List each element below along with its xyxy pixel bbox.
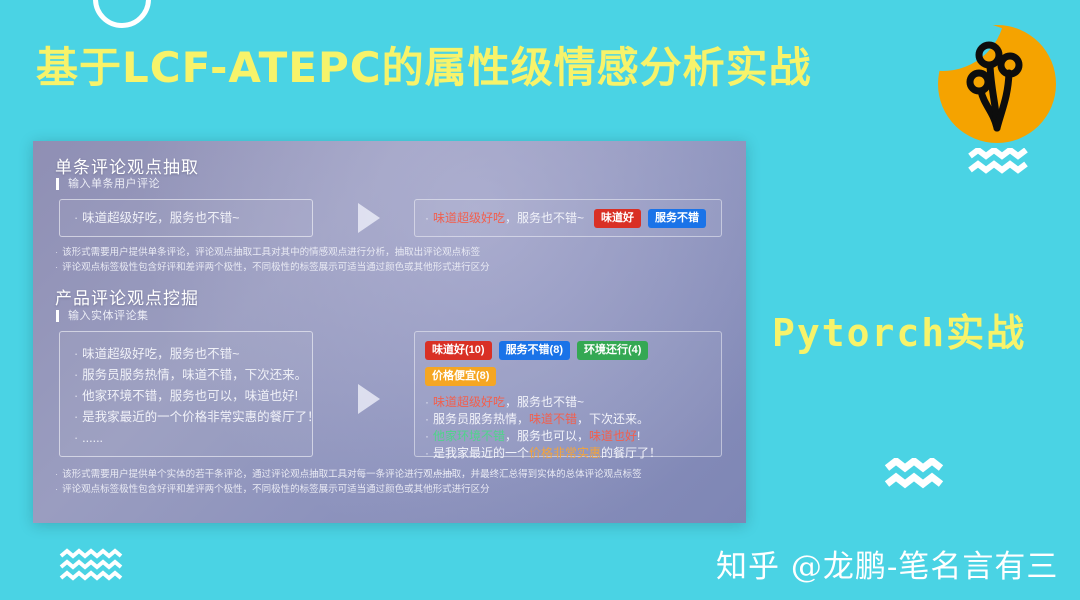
input-line: ·是我家最近的一个价格非常实惠的餐厅了！ xyxy=(74,407,298,428)
note-item: ·评论观点标签极性包含好评和差评两个极性，不同极性的标签展示可适当通过颜色或其他… xyxy=(55,482,642,497)
bullet-icon: · xyxy=(74,211,78,225)
bullet-icon: · xyxy=(74,347,78,361)
section-two-subtitle: 输入实体评论集 xyxy=(56,310,149,322)
result-line: ·他家环境不错，服务也可以，味道也好! xyxy=(425,428,711,445)
text-span: 的餐厅了！ xyxy=(601,446,661,460)
text-span: ，下次还来。 xyxy=(577,412,649,426)
input-line: ·服务员服务热情，味道不错，下次还来。 xyxy=(74,365,298,386)
result-line: ·服务员服务热情，味道不错，下次还来。 xyxy=(425,411,711,428)
arrow-right-icon xyxy=(358,384,380,414)
bullet-icon: · xyxy=(425,395,429,409)
text-span: 味道超级好吃 xyxy=(433,211,505,225)
bullet-icon: · xyxy=(425,412,429,426)
bullet-icon: · xyxy=(55,247,58,258)
circle-outline-icon xyxy=(93,0,151,28)
content-panel: 单条评论观点抽取 输入单条用户评论 ·味道超级好吃，服务也不错~ ·味道超级好吃… xyxy=(33,141,746,523)
sentiment-tag[interactable]: 价格便宜(8) xyxy=(425,367,496,386)
text-span: 价格非常实惠 xyxy=(529,446,601,460)
text-span: ! xyxy=(637,429,640,443)
text-span: 服务员服务热情， xyxy=(433,412,529,426)
watermark: 知乎 @龙鹏-笔名言有三 xyxy=(716,541,1058,586)
bullet-icon: · xyxy=(425,211,429,225)
slide-root: { "theme": { "background": "#4ad3e4", "t… xyxy=(0,0,1080,600)
section-two-output: 味道好(10)服务不错(8)环境还行(4)价格便宜(8) ·味道超级好吃，服务也… xyxy=(414,331,722,457)
sentiment-tag[interactable]: 味道好(10) xyxy=(425,341,492,360)
section-one-result-sentence: ·味道超级好吃，服务也不错~ xyxy=(425,210,584,227)
logo-glyph-icon xyxy=(938,25,1056,143)
text-span: ，服务也不错~ xyxy=(505,211,584,225)
text-span: 味道不错 xyxy=(529,412,577,426)
input-line: ·他家环境不错，服务也可以，味道也好! xyxy=(74,386,298,407)
wave-lines-icon-bottom-left xyxy=(58,548,128,584)
wave-lines-icon-top-right xyxy=(968,148,1030,178)
bullet-icon: · xyxy=(74,368,78,382)
input-line: ·味道超级好吃，服务也不错~ xyxy=(74,344,298,365)
note-item: ·该形式需要用户提供单条评论，评论观点抽取工具对其中的情感观点进行分析，抽取出评… xyxy=(55,245,490,260)
bullet-icon: · xyxy=(425,446,429,460)
side-label: Pytorch实战 xyxy=(772,302,1026,357)
input-line: ·味道超级好吃，服务也不错~ xyxy=(74,208,298,229)
page-title: 基于LCF-ATEPC的属性级情感分析实战 xyxy=(36,34,812,95)
section-two-input[interactable]: ·味道超级好吃，服务也不错~·服务员服务热情，味道不错，下次还来。·他家环境不错… xyxy=(59,331,313,457)
note-item: ·该形式需要用户提供单个实体的若干条评论，通过评论观点抽取工具对每一条评论进行观… xyxy=(55,467,642,482)
text-span: 是我家最近的一个 xyxy=(433,446,529,460)
section-one-subtitle: 输入单条用户评论 xyxy=(56,178,160,190)
bullet-icon: · xyxy=(74,431,78,445)
sentiment-tag[interactable]: 味道好 xyxy=(594,209,641,228)
bullet-icon: · xyxy=(74,389,78,403)
wave-lines-icon-mid-right xyxy=(884,458,948,492)
section-two-notes: ·该形式需要用户提供单个实体的若干条评论，通过评论观点抽取工具对每一条评论进行观… xyxy=(55,467,642,497)
bullet-icon: · xyxy=(55,262,58,273)
bullet-icon: · xyxy=(74,410,78,424)
note-item: ·评论观点标签极性包含好评和差评两个极性，不同极性的标签展示可适当通过颜色或其他… xyxy=(55,260,490,275)
section-one-notes: ·该形式需要用户提供单条评论，评论观点抽取工具对其中的情感观点进行分析，抽取出评… xyxy=(55,245,490,275)
text-span: 他家环境不错 xyxy=(433,429,505,443)
text-span: ，服务也可以， xyxy=(505,429,589,443)
text-span: 味道也好 xyxy=(589,429,637,443)
section-one-output: ·味道超级好吃，服务也不错~ 味道好服务不错 xyxy=(414,199,722,237)
text-span: 味道超级好吃 xyxy=(433,395,505,409)
bullet-icon: · xyxy=(425,429,429,443)
section-two-tag-row: 味道好(10)服务不错(8)环境还行(4)价格便宜(8) xyxy=(425,341,711,386)
bullet-icon: · xyxy=(55,469,58,480)
neural-plant-logo-icon xyxy=(938,25,1056,143)
section-one-title: 单条评论观点抽取 xyxy=(55,153,199,178)
input-line: ·...... xyxy=(74,428,298,449)
arrow-right-icon xyxy=(358,203,380,233)
bullet-icon: · xyxy=(55,484,58,495)
sentiment-tag[interactable]: 服务不错(8) xyxy=(499,341,570,360)
result-line: ·是我家最近的一个价格非常实惠的餐厅了！ xyxy=(425,445,711,462)
text-span: ，服务也不错~ xyxy=(505,395,584,409)
section-one-input[interactable]: ·味道超级好吃，服务也不错~ xyxy=(59,199,313,237)
sentiment-tag[interactable]: 服务不错 xyxy=(648,209,706,228)
sentiment-tag[interactable]: 环境还行(4) xyxy=(577,341,648,360)
section-two-title: 产品评论观点挖掘 xyxy=(55,284,199,309)
section-one-tag-row: 味道好服务不错 xyxy=(594,209,706,228)
result-line: ·味道超级好吃，服务也不错~ xyxy=(425,394,711,411)
